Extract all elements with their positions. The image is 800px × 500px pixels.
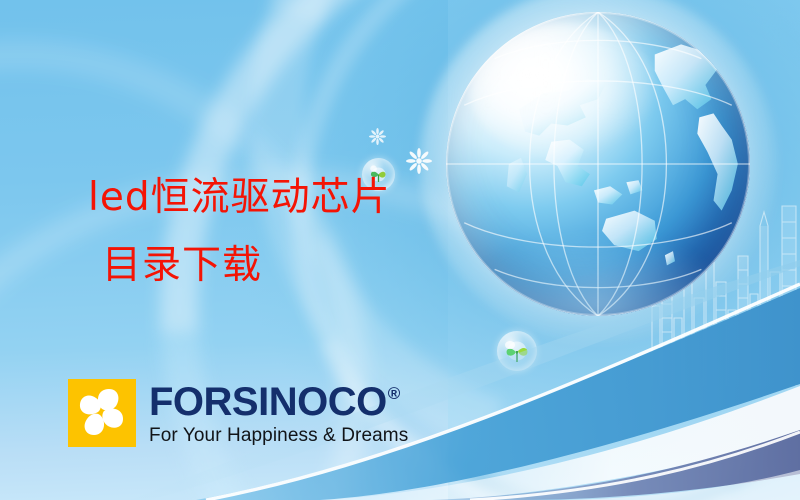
- brand-text: FORSINOCO ® For Your Happiness & Dreams: [149, 379, 408, 447]
- brand-logo[interactable]: FORSINOCO ® For Your Happiness & Dreams: [68, 379, 408, 447]
- brand-wordmark: FORSINOCO ®: [149, 382, 408, 422]
- registered-trademark-icon: ®: [388, 385, 400, 402]
- headline: led恒流驱动芯片 目录下载: [88, 164, 528, 300]
- white-flower-sparkle-icon-small: [369, 128, 386, 145]
- brand-name: FORSINOCO: [149, 382, 387, 422]
- brand-tagline: For Your Happiness & Dreams: [149, 425, 408, 447]
- four-petal-pinwheel-icon: [68, 379, 136, 447]
- promo-banner: led恒流驱动芯片 目录下载 FORSINOCO ® For Your Happ…: [0, 0, 800, 500]
- headline-line-1: led恒流驱动芯片: [88, 164, 528, 232]
- headline-line-2: 目录下载: [102, 232, 528, 300]
